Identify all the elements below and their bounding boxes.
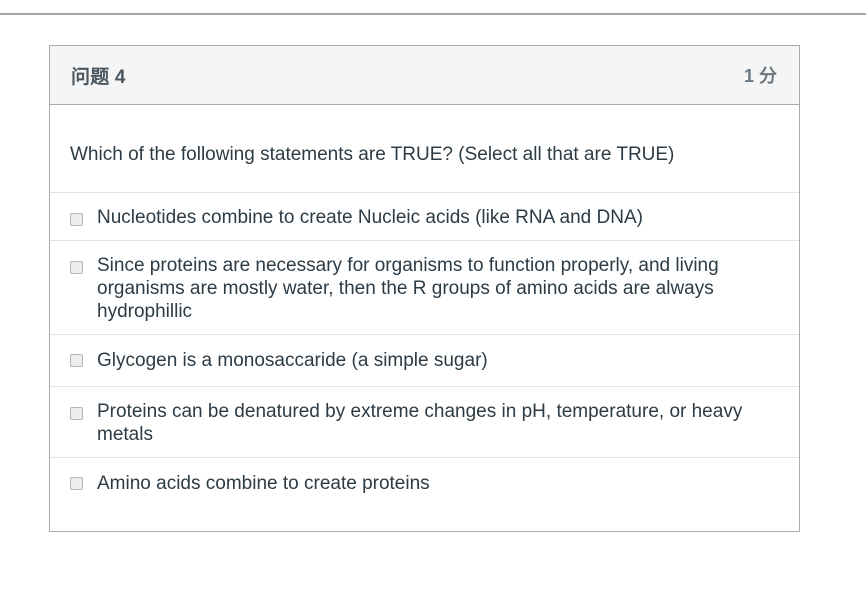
answer-option-list: Nucleotides combine to create Nucleic ac… <box>50 192 799 509</box>
answer-option-5[interactable]: Amino acids combine to create proteins <box>50 457 799 509</box>
checkbox-icon[interactable] <box>70 477 83 490</box>
answer-option-3[interactable]: Glycogen is a monosaccaride (a simple su… <box>50 334 799 386</box>
checkbox-icon[interactable] <box>70 213 83 226</box>
answer-option-label: Since proteins are necessary for organis… <box>97 254 781 323</box>
answer-option-label: Glycogen is a monosaccaride (a simple su… <box>97 349 781 372</box>
checkbox-icon[interactable] <box>70 261 83 274</box>
answer-option-label: Proteins can be denatured by extreme cha… <box>97 400 781 446</box>
question-header: 问题 4 1 分 <box>50 46 799 105</box>
answer-option-label: Amino acids combine to create proteins <box>97 472 781 495</box>
question-card: 问题 4 1 分 Which of the following statemen… <box>49 45 800 532</box>
answer-option-label: Nucleotides combine to create Nucleic ac… <box>97 206 781 229</box>
checkbox-icon[interactable] <box>70 354 83 367</box>
question-points-label: 1 分 <box>744 62 777 88</box>
question-body: Which of the following statements are TR… <box>50 105 799 531</box>
page-top-divider <box>0 13 866 15</box>
answer-option-1[interactable]: Nucleotides combine to create Nucleic ac… <box>50 192 799 240</box>
answer-option-4[interactable]: Proteins can be denatured by extreme cha… <box>50 386 799 457</box>
question-number-label: 问题 4 <box>71 62 126 89</box>
question-prompt-text: Which of the following statements are TR… <box>50 105 799 192</box>
checkbox-icon[interactable] <box>70 407 83 420</box>
answer-option-2[interactable]: Since proteins are necessary for organis… <box>50 240 799 334</box>
